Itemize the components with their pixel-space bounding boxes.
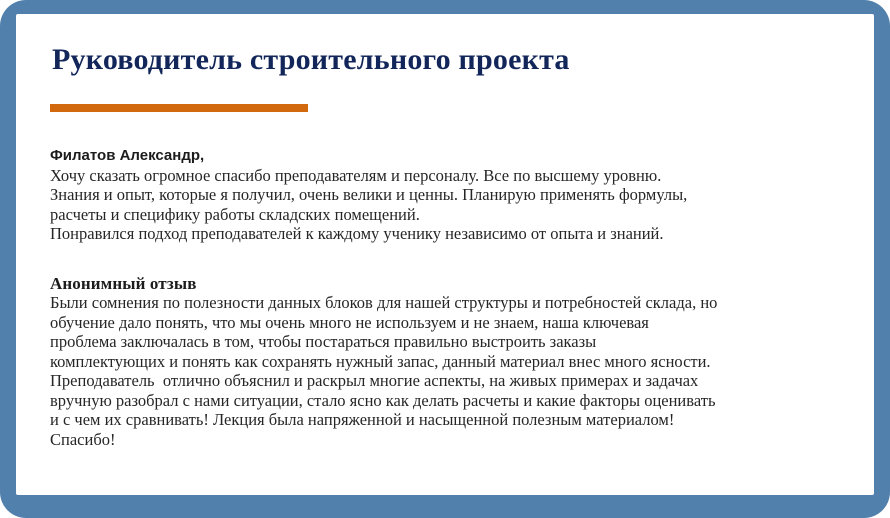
slide-content-canvas: Руководитель строительного проекта Филат… [16,14,874,495]
review-block-2: Анонимный отзыв Были сомнения по полезно… [50,274,850,450]
review-block-1: Филатов Александр, Хочу сказать огромное… [50,146,850,244]
review-author-name: Филатов Александр, [50,146,850,166]
review-line: обучение дало понять, что мы очень много… [50,313,850,333]
reviews-container: Филатов Александр, Хочу сказать огромное… [50,146,850,467]
block-spacer [50,262,850,274]
slide: Руководитель строительного проекта Филат… [0,0,890,518]
review-line: комплектующих и понять как сохранять нуж… [50,352,850,372]
page-title: Руководитель строительного проекта [52,43,570,77]
review-line: Знания и опыт, которые я получил, очень … [50,185,850,205]
review-author-name: Анонимный отзыв [50,274,850,294]
review-body-1: Хочу сказать огромное спасибо преподават… [50,166,850,244]
review-line: расчеты и специфику работы складских пом… [50,205,850,225]
review-line: Понравился подход преподавателей к каждо… [50,224,850,244]
review-line: проблема заключалась в том, чтобы постар… [50,332,850,352]
review-body-2: Были сомнения по полезности данных блоко… [50,293,850,449]
review-line: и с чем их сравнивать! Лекция была напря… [50,410,850,430]
review-line: Хочу сказать огромное спасибо преподават… [50,166,850,186]
review-line: Спасибо! [50,430,850,450]
orange-accent-bar [50,104,308,112]
review-line: Были сомнения по полезности данных блоко… [50,293,850,313]
review-line: Преподаватель отлично объяснил и раскрыл… [50,371,850,391]
review-line: вручную разобрал с нами ситуации, стало … [50,391,850,411]
